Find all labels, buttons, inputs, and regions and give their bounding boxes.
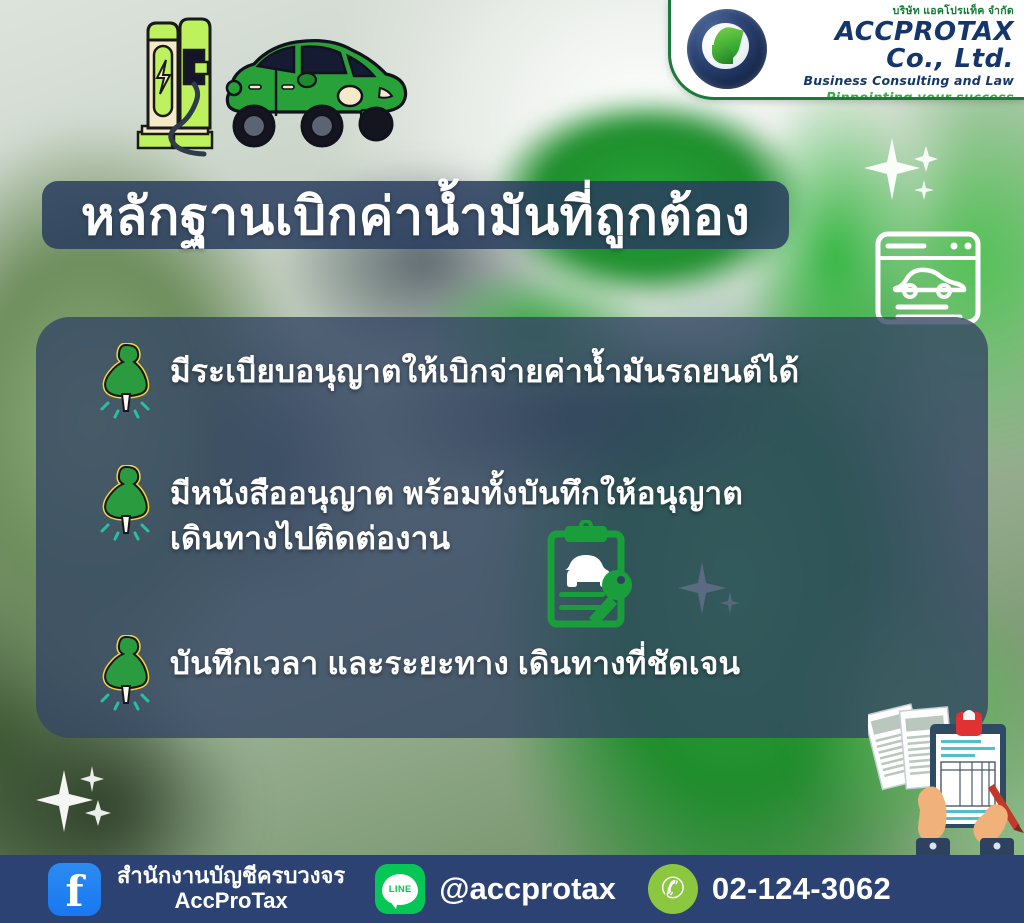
logo-slogan: Pinpointing your success bbox=[775, 90, 1014, 100]
footer-contact-bar: f สำนักงานบัญชีครบวงจร AccProTax LINE @a… bbox=[0, 855, 1024, 923]
facebook-contact[interactable]: f สำนักงานบัญชีครบวงจร AccProTax bbox=[0, 863, 345, 916]
infographic-canvas: บริษัท แอคโปรแท็ค จำกัด ACCPROTAX Co., L… bbox=[0, 0, 1024, 923]
bullet-2-line-1: มีหนังสืออนุญาต พร้อมทั้งบันทึกให้อนุญาต bbox=[170, 475, 743, 511]
documents-clipboard-illustration bbox=[868, 698, 1024, 858]
accprotax-logo-icon bbox=[687, 9, 767, 89]
facebook-icon[interactable]: f bbox=[48, 863, 101, 916]
browser-car-icon bbox=[872, 228, 984, 328]
pushpin-icon bbox=[98, 465, 156, 541]
facebook-label-line-2: AccProTax bbox=[117, 889, 345, 914]
line-icon[interactable]: LINE bbox=[375, 864, 425, 914]
facebook-label: สำนักงานบัญชีครบวงจร AccProTax bbox=[117, 864, 345, 913]
phone-contact[interactable]: ✆ 02-124-3062 bbox=[616, 864, 891, 914]
logo-company-thai: บริษัท แอคโปรแท็ค จำกัด bbox=[775, 6, 1014, 18]
logo-company-name: ACCPROTAX Co., Ltd. bbox=[775, 19, 1014, 74]
facebook-label-line-1: สำนักงานบัญชีครบวงจร bbox=[117, 864, 345, 889]
content-panel: มีระเบียบอนุญาตให้เบิกจ่ายค่าน้ำมันรถยนต… bbox=[36, 317, 988, 738]
page-title: หลักฐานเบิกค่าน้ำมันที่ถูกต้อง bbox=[81, 174, 751, 257]
line-contact[interactable]: LINE @accprotax bbox=[345, 864, 616, 914]
phone-icon[interactable]: ✆ bbox=[648, 864, 698, 914]
bullet-item-1: มีระเบียบอนุญาตให้เบิกจ่ายค่าน้ำมันรถยนต… bbox=[98, 343, 799, 419]
bullet-item-3: บันทึกเวลา และระยะทาง เดินทางที่ชัดเจน bbox=[98, 635, 740, 711]
bullet-3-line-1: บันทึกเวลา และระยะทาง เดินทางที่ชัดเจน bbox=[170, 645, 740, 681]
title-banner: หลักฐานเบิกค่าน้ำมันที่ถูกต้อง bbox=[42, 181, 789, 249]
line-badge-label: LINE bbox=[389, 884, 412, 895]
logo-tagline: Business Consulting and Law bbox=[775, 73, 1014, 90]
clipboard-car-key-icon bbox=[543, 520, 663, 638]
line-id: @accprotax bbox=[439, 871, 616, 907]
ev-charging-illustration bbox=[118, 14, 418, 164]
pushpin-icon bbox=[98, 343, 156, 419]
phone-glyph: ✆ bbox=[661, 875, 685, 904]
facebook-glyph: f bbox=[65, 871, 83, 913]
bullet-text-1: มีระเบียบอนุญาตให้เบิกจ่ายค่าน้ำมันรถยนต… bbox=[170, 343, 799, 394]
company-logo-badge: บริษัท แอคโปรแท็ค จำกัด ACCPROTAX Co., L… bbox=[668, 0, 1024, 100]
bullet-text-3: บันทึกเวลา และระยะทาง เดินทางที่ชัดเจน bbox=[170, 635, 740, 686]
bullet-1-line-1: มีระเบียบอนุญาตให้เบิกจ่ายค่าน้ำมันรถยนต… bbox=[170, 353, 799, 389]
pushpin-icon bbox=[98, 635, 156, 711]
phone-number: 02-124-3062 bbox=[712, 871, 891, 907]
